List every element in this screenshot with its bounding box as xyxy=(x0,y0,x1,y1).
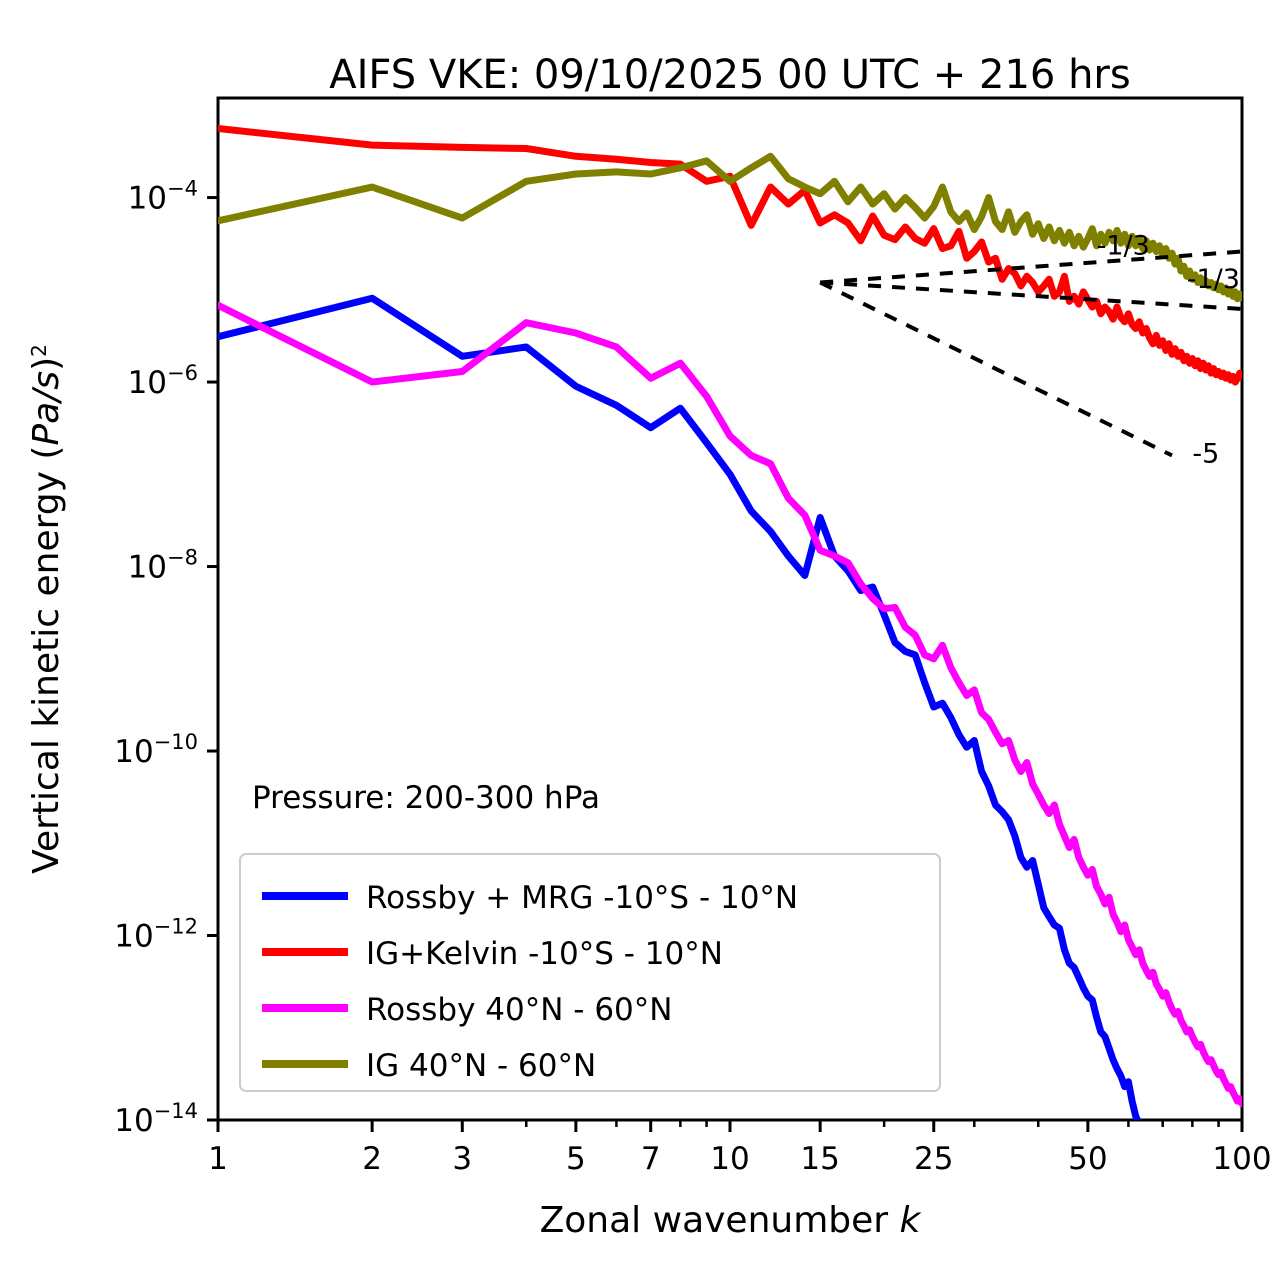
pressure-annotation: Pressure: 200-300 hPa xyxy=(252,780,600,816)
x-tick-label: 25 xyxy=(914,1141,953,1177)
x-tick-label: 2 xyxy=(362,1141,382,1177)
slope-label-lower: -1/3 xyxy=(1187,264,1240,295)
slope-label-minus5: -5 xyxy=(1192,438,1219,469)
y-tick-base: 10 xyxy=(128,181,167,217)
y-tick-base: 10 xyxy=(114,919,153,955)
vke-spectrum-chart: AIFS VKE: 09/10/2025 00 UTC + 216 hrs 10… xyxy=(0,0,1280,1288)
x-tick-label: 15 xyxy=(800,1141,839,1177)
y-tick-exponent: −10 xyxy=(154,730,198,754)
slope-label-upper: -1/3 xyxy=(1097,231,1150,262)
legend-label: Rossby 40°N - 60°N xyxy=(366,992,672,1028)
x-axis-label: Zonal wavenumber k xyxy=(540,1200,923,1241)
x-axis-label-italic: k xyxy=(900,1200,923,1241)
x-tick-label: 50 xyxy=(1068,1141,1107,1177)
y-axis-label-italic: Pa/s xyxy=(26,371,67,446)
y-axis-label-post: ) xyxy=(26,357,67,371)
y-tick-exponent: −6 xyxy=(167,361,198,385)
y-axis-label: Vertical kinetic energy (Pa/s)2 xyxy=(26,344,67,874)
y-tick-exponent: −4 xyxy=(167,177,198,201)
y-tick-base: 10 xyxy=(114,734,153,770)
chart-title: AIFS VKE: 09/10/2025 00 UTC + 216 hrs xyxy=(329,52,1130,98)
x-tick-label: 100 xyxy=(1212,1141,1271,1177)
x-tick-label: 10 xyxy=(710,1141,749,1177)
legend-label: IG 40°N - 60°N xyxy=(366,1048,596,1084)
y-tick-exponent: −12 xyxy=(154,915,198,939)
x-tick-label: 3 xyxy=(452,1141,472,1177)
x-tick-label: 7 xyxy=(641,1141,661,1177)
y-tick-exponent: −14 xyxy=(154,1099,198,1123)
y-tick-base: 10 xyxy=(114,1103,153,1139)
y-tick-exponent: −8 xyxy=(167,546,198,570)
x-tick-label: 5 xyxy=(566,1141,586,1177)
x-tick-label: 1 xyxy=(208,1141,228,1177)
y-axis-label-superscript: 2 xyxy=(27,344,51,357)
legend-label: IG+Kelvin -10°S - 10°N xyxy=(366,936,723,972)
x-axis-label-pre: Zonal wavenumber xyxy=(540,1200,900,1241)
figure-container: AIFS VKE: 09/10/2025 00 UTC + 216 hrs 10… xyxy=(0,0,1280,1288)
y-axis-label-pre: Vertical kinetic energy ( xyxy=(26,446,67,874)
y-tick-base: 10 xyxy=(128,365,167,401)
chart-legend: Rossby + MRG -10°S - 10°NIG+Kelvin -10°S… xyxy=(240,854,940,1091)
y-tick-base: 10 xyxy=(128,550,167,586)
legend-label: Rossby + MRG -10°S - 10°N xyxy=(366,880,798,916)
